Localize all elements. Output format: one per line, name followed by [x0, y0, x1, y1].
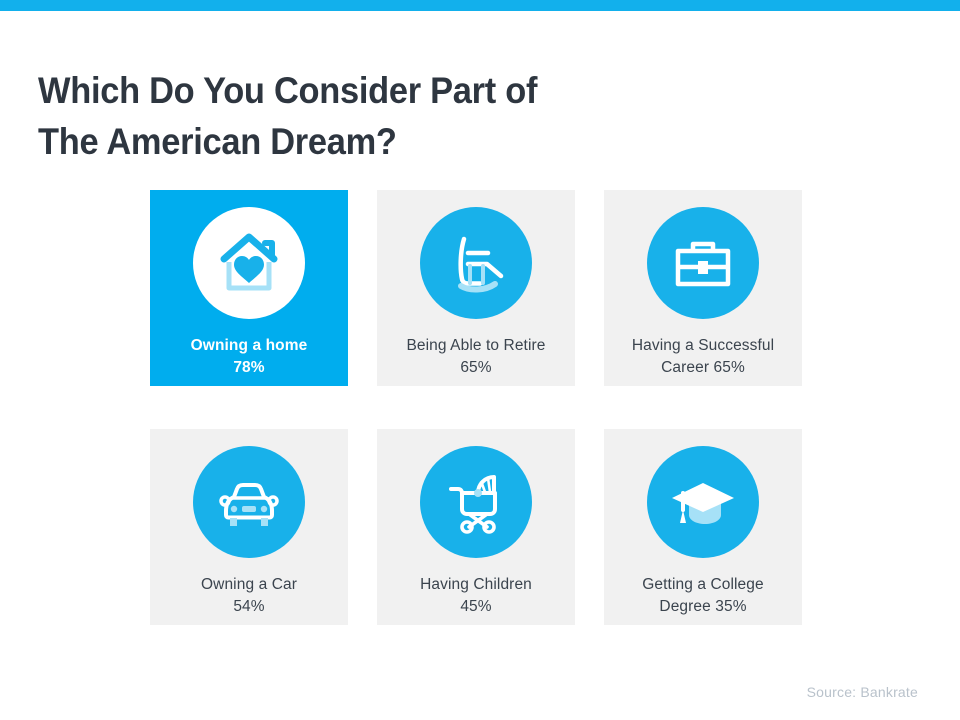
source-attribution: Source: Bankrate — [807, 684, 918, 700]
stat-card-label: Getting a College — [607, 574, 799, 596]
icon-badge-car — [193, 446, 305, 558]
stat-card-label: Owning a home — [153, 335, 345, 357]
stat-card-owning-a-car[interactable]: Owning a Car 54% — [150, 429, 348, 625]
stat-card-getting-a-college-degree[interactable]: Getting a College Degree 35% — [604, 429, 802, 625]
stat-card-value: Career 65% — [607, 357, 799, 379]
page-title: Which Do You Consider Part of The Americ… — [38, 65, 689, 167]
car-icon — [211, 465, 287, 539]
top-accent-bar — [0, 0, 960, 11]
icon-badge-briefcase — [647, 207, 759, 319]
stat-card-value: 65% — [380, 357, 572, 379]
stat-card-caption: Owning a home 78% — [153, 335, 345, 379]
graduation-cap-icon — [664, 465, 742, 539]
page-title-line-2: The American Dream? — [38, 116, 689, 167]
stat-card-caption: Having a Successful Career 65% — [607, 335, 799, 379]
baby-stroller-icon — [438, 465, 514, 539]
stat-card-having-children[interactable]: Having Children 45% — [377, 429, 575, 625]
stat-card-caption: Having Children 45% — [380, 574, 572, 618]
stat-card-caption: Being Able to Retire 65% — [380, 335, 572, 379]
stat-card-being-able-to-retire[interactable]: Being Able to Retire 65% — [377, 190, 575, 386]
stat-card-grid: Owning a home 78% Being Able to Retire 6… — [150, 190, 807, 625]
briefcase-icon — [666, 226, 740, 300]
stat-card-value: Degree 35% — [607, 596, 799, 618]
house-heart-icon — [210, 226, 288, 300]
stat-card-label: Having Children — [380, 574, 572, 596]
stat-card-value: 45% — [380, 596, 572, 618]
icon-badge-baby-stroller — [420, 446, 532, 558]
stat-card-label: Having a Successful — [607, 335, 799, 357]
stat-card-caption: Getting a College Degree 35% — [607, 574, 799, 618]
icon-badge-graduation-cap — [647, 446, 759, 558]
stat-card-having-a-successful-career[interactable]: Having a Successful Career 65% — [604, 190, 802, 386]
stat-card-value: 78% — [153, 357, 345, 379]
stat-card-label: Owning a Car — [153, 574, 345, 596]
stat-card-owning-a-home[interactable]: Owning a home 78% — [150, 190, 348, 386]
page-title-line-1: Which Do You Consider Part of — [38, 65, 689, 116]
stat-card-value: 54% — [153, 596, 345, 618]
icon-badge-house-heart — [193, 207, 305, 319]
stat-card-label: Being Able to Retire — [380, 335, 572, 357]
stat-card-caption: Owning a Car 54% — [153, 574, 345, 618]
rocking-chair-icon — [439, 226, 513, 300]
icon-badge-rocking-chair — [420, 207, 532, 319]
